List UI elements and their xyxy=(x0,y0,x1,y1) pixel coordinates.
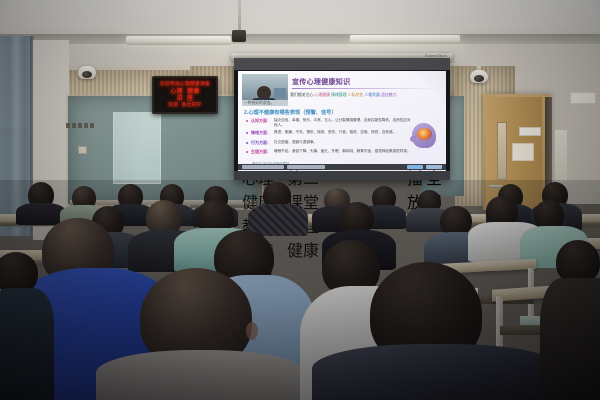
led-line-2: 心理 健康 xyxy=(170,89,200,95)
taskbar-fullscreen-button[interactable]: 全屏 xyxy=(426,165,442,169)
taskbar-item-0[interactable]: 心理健康教育宣传资料 xyxy=(242,165,284,169)
wall-notice-right xyxy=(570,92,596,104)
bullet-item: 生理方面： 睡眠不足、食欲下降、头痛、疲乏、失眠、胸闷闷、肠胃不适、感觉神经素感… xyxy=(246,149,414,155)
keyword-1: 心理健康 xyxy=(314,92,330,97)
bullet-label: 行为方面： xyxy=(251,140,271,146)
keyword-4: 人格发展 xyxy=(364,92,380,97)
keyword-0: 我们都关注心 xyxy=(290,92,313,97)
screen-top-band xyxy=(234,58,450,70)
brain-head-icon xyxy=(412,121,438,149)
bullet-item: 认知方面： 缺乏自信、幸福、快乐、平常、忘心，让分裂情感管理、自我控能性降低、自… xyxy=(246,118,414,127)
door-window-strip xyxy=(497,122,507,180)
classroom-photo: 欢迎参加心理健康讲座 心理 健康 讲 座 欢迎 各位同学 ScreenTech xyxy=(0,0,600,400)
ceiling-light-left xyxy=(126,36,231,45)
bullet-label: 认知方面： xyxy=(251,118,271,127)
slide-bullet-list: 认知方面： 缺乏自信、幸福、快乐、平常、忘心，让分裂情感管理、自我控能性降低、自… xyxy=(246,118,414,158)
desk-leg xyxy=(496,296,503,352)
bullet-dot-icon xyxy=(246,142,248,144)
wall-panel-right xyxy=(555,130,567,182)
presentation-slide: 宣传心理健康知识 我们都关注心 心理健康 情绪管理 人际交往 人格发展 适应能力… xyxy=(238,71,446,171)
keyword-2: 情绪管理 xyxy=(331,92,347,97)
slide-keyword-row: 我们都关注心 心理健康 情绪管理 人际交往 人格发展 适应能力 xyxy=(290,92,442,97)
keyword-5: 适应能力 xyxy=(381,92,397,97)
door-posted-notice xyxy=(512,143,534,161)
led-line-1: 欢迎参加心理健康讲座 xyxy=(160,82,210,88)
wall-outlet xyxy=(78,146,87,154)
bullet-item: 行为方面： 社交退缩、退避与退避事。 xyxy=(246,140,414,146)
bullet-text: 睡眠不足、食欲下降、头痛、疲乏、失眠、胸闷闷、肠胃不适、感觉神经素感觉异常。 xyxy=(274,149,411,155)
projector-body xyxy=(232,30,246,42)
wall-sign-plaque xyxy=(62,122,98,129)
door-sign xyxy=(519,127,541,136)
bullet-text: 缺乏自信、幸福、快乐、平常、忘心，让分裂情感管理、自我控能性降低、自然性应对他人… xyxy=(274,118,414,127)
bullet-text: 焦虑、焦躁、不安、愧疚、恼怒、悲伤、兴奋、恼怒、苦恼、惊恐、自悲感。 xyxy=(274,130,396,136)
bullet-label: 情绪方面： xyxy=(251,130,271,136)
bullet-label: 生理方面： xyxy=(251,149,271,155)
projection-screen: 宣传心理健康知识 我们都关注心 心理健康 情绪管理 人际交往 人格发展 适应能力… xyxy=(234,58,450,180)
glass-whiteboard-panel xyxy=(113,112,161,184)
bullet-dot-icon xyxy=(246,151,248,153)
slide-subtitle: 一种良好的状态。 xyxy=(244,101,274,106)
keyword-3: 人际交往 xyxy=(348,92,364,97)
led-display-panel: 欢迎参加心理健康讲座 心理 健康 讲 座 欢迎 各位同学 xyxy=(152,76,218,114)
led-line-4: 欢迎 各位同学 xyxy=(168,103,201,109)
projection-taskbar: 心理健康教育宣传资料 第二课堂心理健康 播放 全屏 xyxy=(238,164,446,170)
screen-bottom-band xyxy=(234,171,450,180)
bullet-item: 情绪方面： 焦虑、焦躁、不安、愧疚、恼怒、悲伤、兴奋、恼怒、苦恼、惊恐、自悲感。 xyxy=(246,130,414,136)
bullet-dot-icon xyxy=(246,120,248,122)
bullet-dot-icon xyxy=(246,132,248,134)
slide-title: 宣传心理健康知识 xyxy=(292,77,350,87)
ceiling-light-right xyxy=(350,35,460,44)
bullet-text: 社交退缩、退避与退避事。 xyxy=(274,140,317,146)
slide-heading: 2.心理不健康有哪些表现（预警、信号） xyxy=(244,109,337,116)
slide-title-rule xyxy=(292,88,440,89)
led-line-3: 讲 座 xyxy=(177,96,194,102)
taskbar-play-button[interactable]: 播放 xyxy=(407,165,423,169)
taskbar-item-1[interactable]: 第二课堂心理健康 xyxy=(287,165,325,169)
